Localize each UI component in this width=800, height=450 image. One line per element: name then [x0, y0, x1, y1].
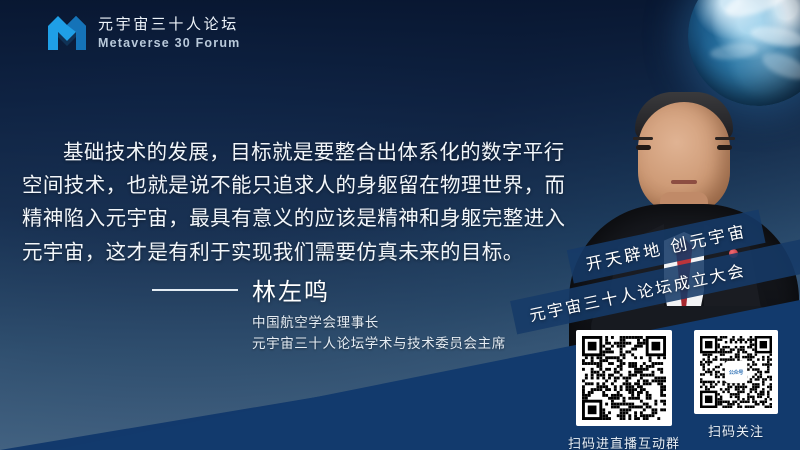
qr-block-follow[interactable]: 公众号 扫码关注: [694, 330, 778, 450]
qr-code-group: 扫码进直播互动群 公众号 扫码关注: [568, 330, 778, 450]
quote-text: 基础技术的发展，目标就是要整合出体系化的数字平行空间技术，也就是说不能只追求人的…: [22, 136, 566, 269]
qr-code-icon[interactable]: [576, 330, 672, 426]
metaverse-m-logo-icon: [46, 13, 88, 53]
speaker-title-2: 元宇宙三十人论坛学术与技术委员会主席: [252, 334, 506, 355]
attribution-rule: [152, 289, 238, 291]
qr-code-icon[interactable]: 公众号: [694, 330, 778, 414]
attribution-block: 林左鸣 中国航空学会理事长 元宇宙三十人论坛学术与技术委员会主席: [152, 272, 506, 355]
qr-center-logo: 公众号: [725, 361, 747, 383]
speaker-title-1: 中国航空学会理事长: [252, 313, 506, 334]
brand-logo: 元宇宙三十人论坛 Metaverse 30 Forum: [46, 13, 241, 53]
qr-label-live-group: 扫码进直播互动群: [568, 433, 680, 450]
brand-name-en: Metaverse 30 Forum: [98, 37, 241, 50]
qr-label-follow: 扫码关注: [708, 421, 764, 440]
qr-block-live-group[interactable]: 扫码进直播互动群: [568, 330, 680, 450]
speaker-name: 林左鸣: [252, 272, 330, 307]
slide-canvas: 元宇宙三十人论坛 Metaverse 30 Forum 基础技术的发展，目标就是…: [0, 0, 800, 450]
brand-name-cn: 元宇宙三十人论坛: [98, 17, 241, 32]
